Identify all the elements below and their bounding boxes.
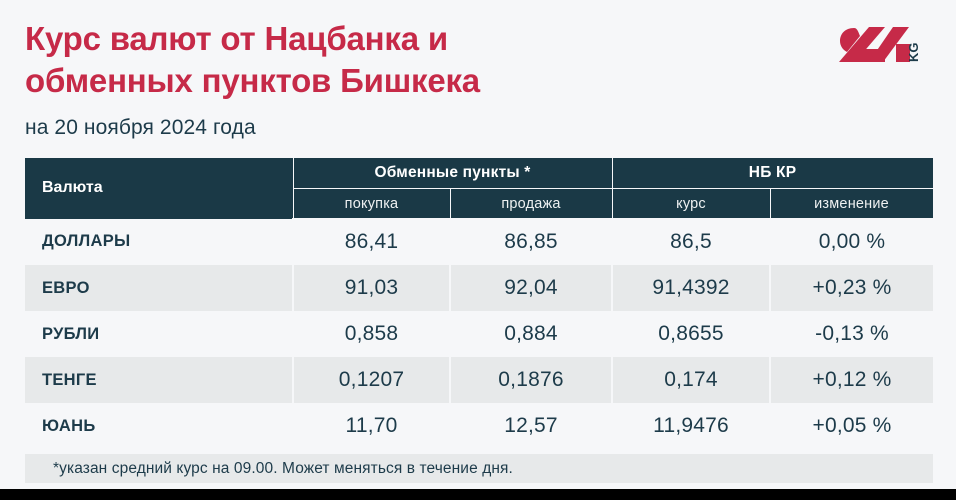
cell-sell: 92,04 (450, 265, 612, 311)
column-header-change: изменение (770, 189, 933, 219)
table-footnote-row: *указан средний курс на 09.00. Может мен… (25, 454, 933, 483)
table-foot: *указан средний курс на 09.00. Может мен… (25, 449, 933, 483)
cell-sell: 0,1876 (450, 357, 612, 403)
table-row: ЮАНЬ 11,70 12,57 11,9476 +0,05 % (25, 403, 933, 449)
cell-currency: ЮАНЬ (25, 403, 293, 449)
infographic-page: Курс валют от Нацбанка и обменных пункто… (0, 0, 956, 500)
cell-change: +0,12 % (770, 357, 933, 403)
cell-sell: 86,85 (450, 219, 612, 266)
cell-buy: 0,858 (293, 311, 450, 357)
column-header-rate: курс (612, 189, 770, 219)
brand-logo-24kg: KG (838, 18, 934, 70)
bottom-bar (0, 489, 956, 500)
cell-currency: ДОЛЛАРЫ (25, 219, 293, 266)
cell-rate: 86,5 (612, 219, 770, 266)
cell-sell: 0,884 (450, 311, 612, 357)
cell-buy: 11,70 (293, 403, 450, 449)
table-row: РУБЛИ 0,858 0,884 0,8655 -0,13 % (25, 311, 933, 357)
cell-currency: ЕВРО (25, 265, 293, 311)
cell-rate: 91,4392 (612, 265, 770, 311)
footnote-text: *указан средний курс на 09.00. Может мен… (25, 454, 933, 483)
cell-rate: 11,9476 (612, 403, 770, 449)
cell-change: -0,13 % (770, 311, 933, 357)
table-row: ТЕНГЕ 0,1207 0,1876 0,174 +0,12 % (25, 357, 933, 403)
table-row: ДОЛЛАРЫ 86,41 86,85 86,5 0,00 % (25, 219, 933, 266)
page-subtitle: на 20 ноября 2024 года (25, 116, 931, 140)
column-group-national-bank: НБ КР (612, 158, 933, 189)
table-head-group-row: Валюта Обменные пункты * НБ КР (25, 158, 933, 189)
cell-buy: 91,03 (293, 265, 450, 311)
currency-rates-table: Валюта Обменные пункты * НБ КР покупка п… (25, 157, 934, 483)
page-title: Курс валют от Нацбанка и обменных пункто… (25, 18, 665, 102)
table-row: ЕВРО 91,03 92,04 91,4392 +0,23 % (25, 265, 933, 311)
cell-rate: 0,8655 (612, 311, 770, 357)
cell-currency: РУБЛИ (25, 311, 293, 357)
rates-table-container: Валюта Обменные пункты * НБ КР покупка п… (25, 157, 933, 483)
cell-buy: 86,41 (293, 219, 450, 266)
cell-currency: ТЕНГЕ (25, 357, 293, 403)
column-header-currency: Валюта (25, 158, 293, 219)
cell-rate: 0,174 (612, 357, 770, 403)
logo-24-icon: KG (838, 18, 934, 70)
column-group-exchange-offices: Обменные пункты * (293, 158, 612, 189)
cell-change: +0,05 % (770, 403, 933, 449)
cell-change: 0,00 % (770, 219, 933, 266)
header: Курс валют от Нацбанка и обменных пункто… (25, 18, 931, 140)
column-header-buy: покупка (293, 189, 450, 219)
cell-sell: 12,57 (450, 403, 612, 449)
table-body: ДОЛЛАРЫ 86,41 86,85 86,5 0,00 % ЕВРО 91,… (25, 219, 933, 450)
column-header-sell: продажа (450, 189, 612, 219)
table-head: Валюта Обменные пункты * НБ КР покупка п… (25, 158, 933, 219)
logo-kg-label: KG (906, 43, 921, 63)
cell-change: +0,23 % (770, 265, 933, 311)
cell-buy: 0,1207 (293, 357, 450, 403)
